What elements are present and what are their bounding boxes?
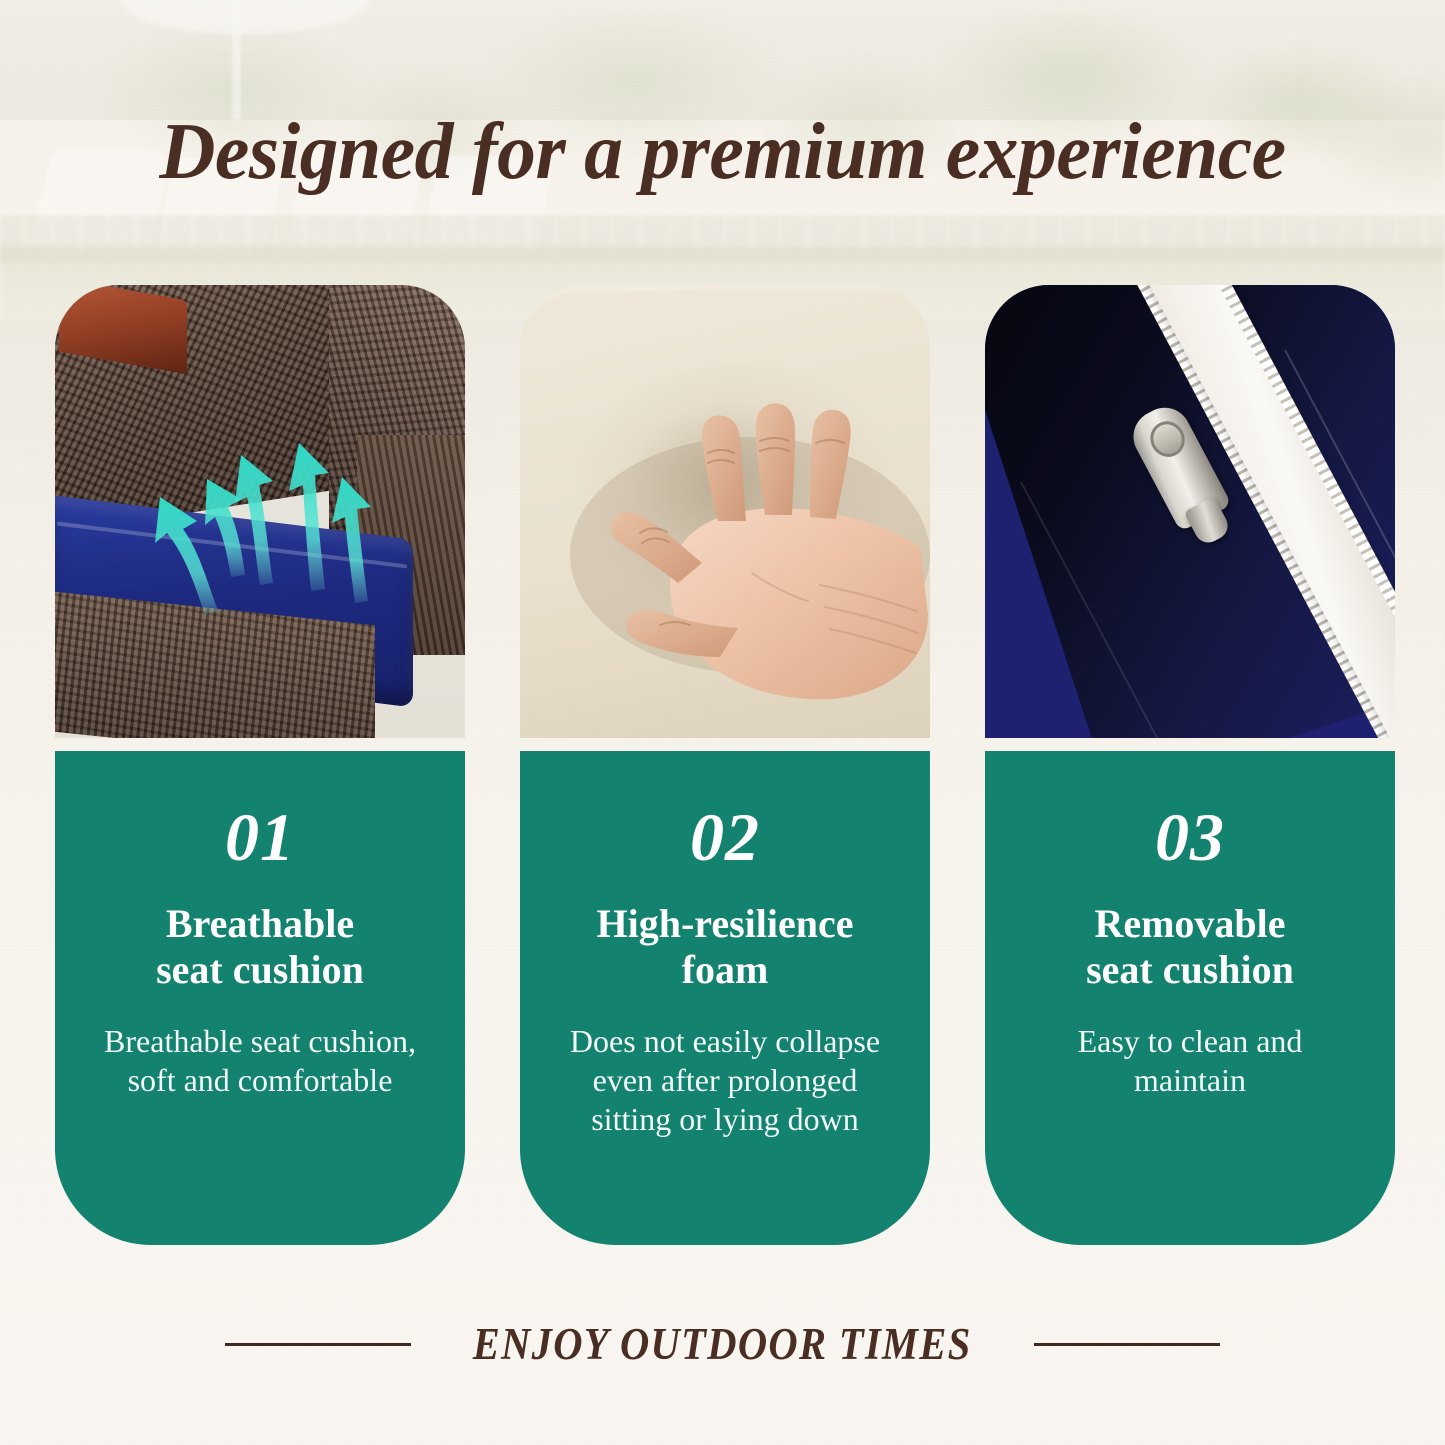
feature-panel-01: 01 Breathable seat cushion Breathable se… — [55, 751, 465, 1245]
feature-title-line2: seat cushion — [156, 947, 364, 992]
airflow-arrows-icon — [55, 285, 465, 738]
feature-title: Removable seat cushion — [985, 901, 1395, 994]
feature-description-line2: maintain — [1134, 1062, 1246, 1098]
footer: ENJOY OUTDOOR TIMES — [0, 1318, 1445, 1370]
feature-title-line2: seat cushion — [1086, 947, 1294, 992]
feature-title: Breathable seat cushion — [55, 901, 465, 994]
page-title: Designed for a premium experience — [22, 112, 1424, 192]
feature-number: 01 — [55, 803, 465, 871]
feature-number: 02 — [520, 803, 930, 871]
feature-title: High-resilience foam — [520, 901, 930, 994]
footer-rule-left — [225, 1343, 411, 1346]
feature-card-01: 01 Breathable seat cushion Breathable se… — [55, 285, 465, 1245]
feature-photo-breathable-cushion — [55, 285, 465, 738]
feature-description-line1: Easy to clean and — [1078, 1023, 1303, 1059]
feature-title-line1: Removable — [1094, 901, 1285, 946]
feature-photo-removable-cover-zipper — [985, 285, 1395, 738]
feature-description-line2: even after prolonged — [593, 1062, 858, 1098]
feature-description-line1: Breathable seat cushion, — [104, 1023, 416, 1059]
feature-panel-03: 03 Removable seat cushion Easy to clean … — [985, 751, 1395, 1245]
feature-photo-high-resilience-foam — [520, 285, 930, 738]
feature-number: 03 — [985, 803, 1395, 871]
infographic-page: Designed for a premium experience — [0, 0, 1445, 1445]
feature-description-line1: Does not easily collapse — [570, 1023, 880, 1059]
feature-description: Easy to clean and maintain — [985, 1022, 1395, 1100]
feature-title-line1: High-resilience — [597, 901, 854, 946]
feature-description: Breathable seat cushion, soft and comfor… — [55, 1022, 465, 1100]
feature-description-line2: soft and comfortable — [128, 1062, 393, 1098]
feature-card-03: 03 Removable seat cushion Easy to clean … — [985, 285, 1395, 1245]
feature-card-list: 01 Breathable seat cushion Breathable se… — [55, 285, 1395, 1245]
feature-card-02: 02 High-resilience foam Does not easily … — [520, 285, 930, 1245]
feature-description: Does not easily collapse even after prol… — [520, 1022, 930, 1139]
feature-panel-02: 02 High-resilience foam Does not easily … — [520, 751, 930, 1245]
feature-title-line1: Breathable — [166, 901, 354, 946]
footer-rule-right — [1034, 1343, 1220, 1346]
hand-pressing-icon — [520, 285, 930, 738]
feature-description-line3: sitting or lying down — [591, 1101, 859, 1137]
feature-title-line2: foam — [682, 947, 769, 992]
footer-tagline: ENJOY OUTDOOR TIMES — [473, 1318, 972, 1370]
